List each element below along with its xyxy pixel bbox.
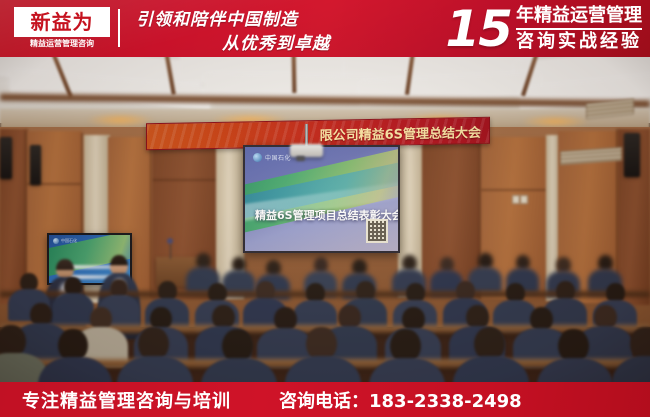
conference-photo: 限公司精益6S管理总结大会 中国石化 精益6S管理项目总结表彰大会 中国石化 (0, 57, 650, 382)
years-number: 15 (445, 7, 511, 51)
wall-outlet (512, 195, 520, 204)
slide-logo: 中国石化 (253, 153, 291, 162)
slide-logo-text: 中国石化 (265, 153, 291, 162)
ceiling-warm-light (85, 113, 155, 127)
logo-tagline: 精益运营管理咨询 (14, 38, 110, 49)
wall-seam (481, 189, 547, 191)
wall-speaker (30, 145, 41, 185)
ceiling-beam (292, 57, 297, 93)
microphone-head-icon (167, 238, 173, 244)
company-logo[interactable]: 新益为 精益运营管理咨询 (0, 0, 122, 57)
projection-screen: 中国石化 精益6S管理项目总结表彰大会 (243, 145, 400, 253)
header-banner: 新益为 精益运营管理咨询 引领和陪伴中国制造 从优秀到卓越 15 年精益运营管理… (0, 0, 650, 57)
projector (290, 144, 323, 157)
tv-logo-text: 中国石化 (61, 238, 77, 244)
wall-seam (153, 179, 217, 181)
footer-phone-label: 咨询电话： (279, 391, 369, 412)
slogan-line-2: 从优秀到卓越 (222, 29, 330, 54)
projector-pole (305, 124, 308, 146)
projector-lens (296, 156, 305, 161)
tv-logo: 中国石化 (53, 238, 77, 244)
wall-speaker (0, 137, 12, 179)
logo-divider (118, 9, 120, 47)
wall-outlet (520, 195, 528, 204)
promo-image-page: 新益为 精益运营管理咨询 引领和陪伴中国制造 从优秀到卓越 15 年精益运营管理… (0, 0, 650, 417)
slogan-line-1: 引领和陪伴中国制造 (136, 5, 298, 30)
footer-slogan: 专注精益管理咨询与培训 (22, 387, 231, 413)
slide-logo-mark-icon (253, 153, 262, 162)
experience-badge: 15 年精益运营管理 咨询实战经验 (400, 0, 650, 57)
years-divider-rule (516, 28, 642, 30)
years-text-stack: 年精益运营管理 咨询实战经验 (516, 5, 642, 53)
wall-speaker (624, 133, 640, 177)
footer-banner: 专注精益管理咨询与培训 咨询电话：183-2338-2498 (0, 382, 650, 417)
seat-row-back (0, 291, 650, 297)
years-line-1: 年精益运营管理 (516, 5, 642, 27)
stage-banner-text: 限公司精益6S管理总结大会 (320, 122, 481, 144)
tv-logo-mark-icon (53, 238, 59, 244)
footer-phone-number: 183-2338-2498 (369, 391, 522, 412)
logo-box: 新益为 (14, 7, 110, 37)
footer-phone[interactable]: 咨询电话：183-2338-2498 (279, 387, 522, 413)
years-line-2: 咨询实战经验 (516, 31, 642, 53)
header-slogan: 引领和陪伴中国制造 从优秀到卓越 (122, 0, 400, 57)
logo-brand-text: 新益为 (31, 12, 94, 32)
microphone-stand (170, 243, 171, 259)
qr-code-icon (366, 219, 388, 243)
